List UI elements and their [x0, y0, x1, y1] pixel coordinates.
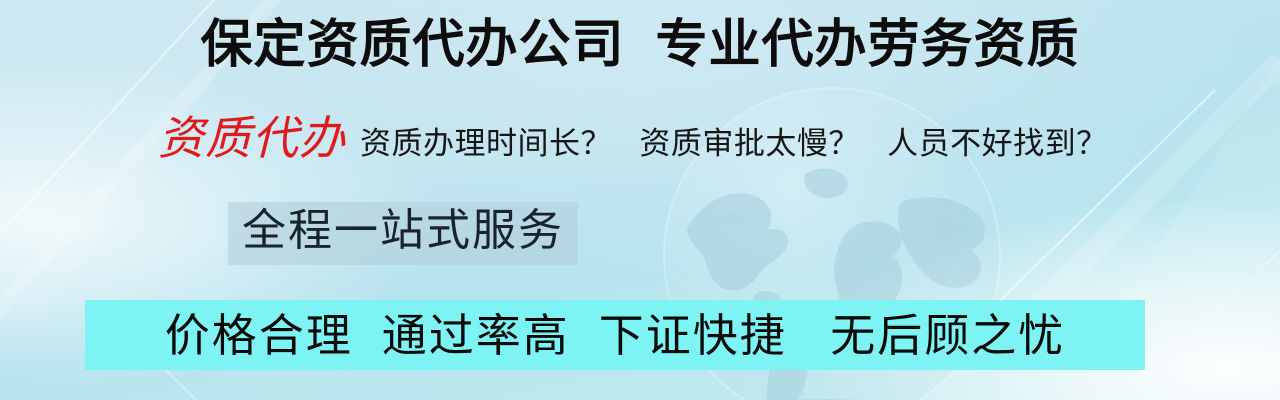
promo-banner: 保定资质代办公司 专业代办劳务资质 资质代办 资质办理时间长？ 资质审批太慢？ …: [0, 0, 1280, 400]
pain-points-row: 资质代办 资质办理时间长？ 资质审批太慢？ 人员不好找到？: [158, 116, 1108, 162]
pain-points-text: 资质办理时间长？ 资质审批太慢？ 人员不好找到？: [360, 128, 1108, 159]
service-promise-badge: 全程一站式服务: [228, 202, 578, 265]
page-title: 保定资质代办公司 专业代办劳务资质: [0, 16, 1280, 76]
brand-tag: 资质代办: [158, 116, 346, 162]
benefits-bar: 价格合理 通过率高 下证快捷 无后顾之忧: [85, 300, 1145, 370]
